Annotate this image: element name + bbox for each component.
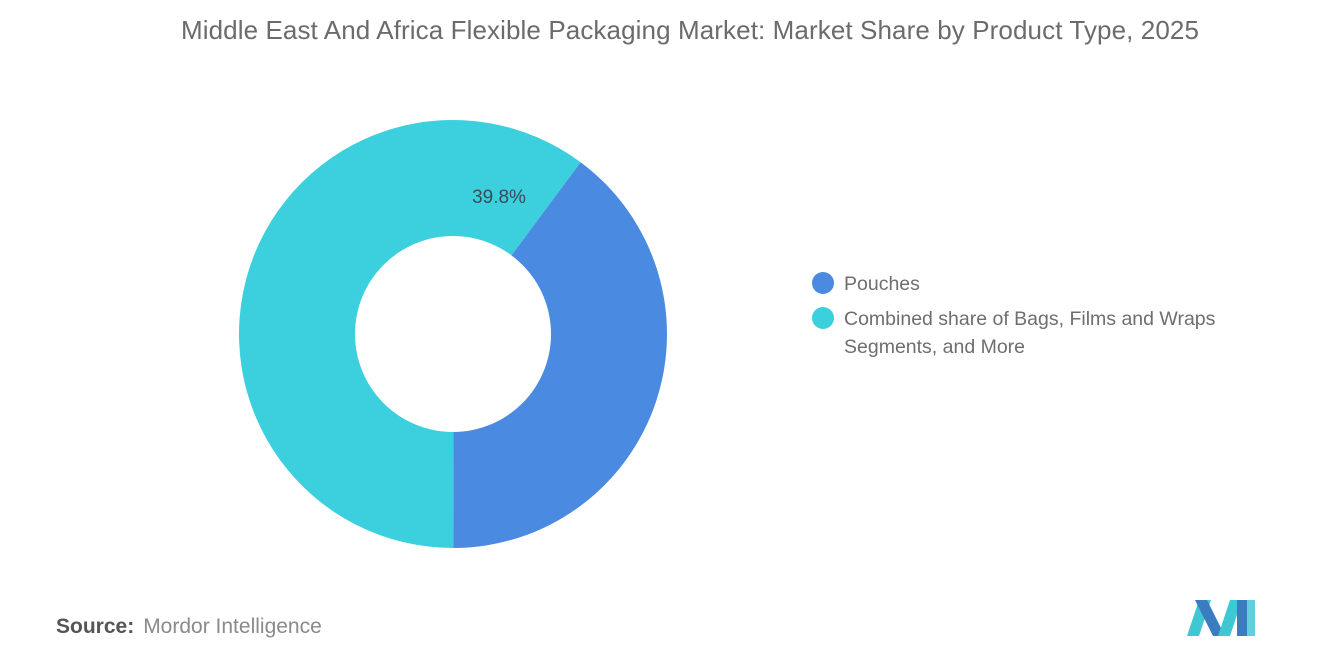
- legend-swatch-icon-combined: [812, 307, 834, 329]
- source-label: Source:: [56, 612, 134, 642]
- donut-svg: [239, 120, 667, 548]
- chart-figure: Middle East And Africa Flexible Packagin…: [0, 0, 1320, 665]
- legend-item-combined[interactable]: Combined share of Bags, Films and Wraps …: [812, 305, 1282, 361]
- page-title: Middle East And Africa Flexible Packagin…: [160, 12, 1220, 48]
- source-value: Mordor Intelligence: [143, 612, 322, 642]
- source-attribution: Source: Mordor Intelligence: [56, 612, 322, 642]
- legend-swatch-icon-pouches: [812, 272, 834, 294]
- legend-label-pouches: Pouches: [844, 270, 920, 298]
- legend-label-combined: Combined share of Bags, Films and Wraps …: [844, 305, 1269, 361]
- chart-legend: Pouches Combined share of Bags, Films an…: [812, 270, 1282, 368]
- legend-item-pouches[interactable]: Pouches: [812, 270, 1282, 298]
- mordor-intelligence-logo-icon: [1185, 598, 1257, 638]
- donut-hole: [355, 236, 551, 432]
- donut-chart: [239, 120, 667, 548]
- logo-svg: [1185, 598, 1257, 638]
